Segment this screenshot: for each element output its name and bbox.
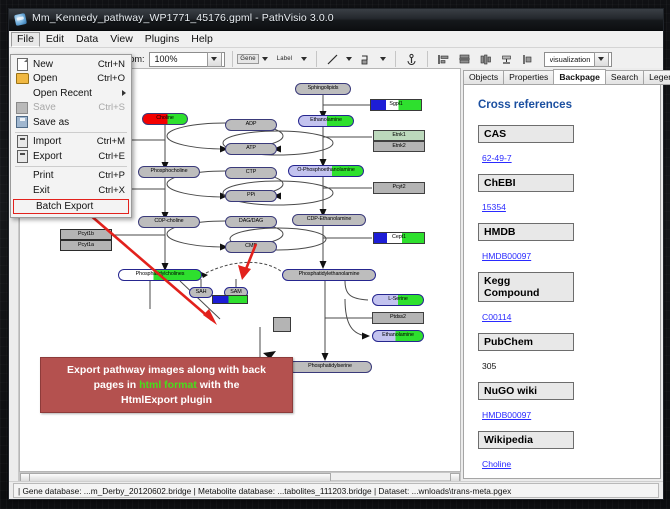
cross-references-heading: Cross references [478, 99, 650, 111]
tab-backpage[interactable]: Backpage [553, 69, 606, 86]
menu-item-new-label: New [33, 59, 98, 70]
interaction-dropdown-icon[interactable] [379, 52, 388, 67]
datanode-dropdown-icon[interactable] [261, 52, 270, 67]
stack-icon[interactable] [477, 51, 494, 68]
menu-item-new-shortcut: Ctrl+N [98, 59, 131, 70]
xref-label-nugo-wiki: NuGO wiki [478, 382, 574, 400]
pathway-node-cdp-ethanolamine[interactable]: CDP-Ethanolamine [292, 214, 366, 226]
pathway-node-choline-1[interactable]: Choline [142, 113, 188, 125]
menu-item-exit[interactable]: Exit Ctrl+X [11, 183, 131, 198]
menu-item-save: Save Ctrl+S [11, 101, 131, 116]
status-bar: | Gene database: ...m_Derby_20120602.bri… [9, 481, 663, 499]
menu-data[interactable]: Data [70, 32, 104, 47]
side-panel-tabs: Objects Properties Backpage Search Legen… [463, 70, 661, 85]
xref-value-nugo-wiki[interactable]: HMDB00097 [482, 410, 531, 420]
export-icon [11, 150, 33, 163]
menu-item-open-shortcut: Ctrl+O [97, 73, 131, 84]
xref-label-hmdb: HMDB [478, 223, 574, 241]
menu-item-open-label: Open [33, 73, 97, 84]
pathway-node-pcyt2[interactable]: Pcyt2 [373, 182, 425, 194]
menu-view[interactable]: View [104, 32, 139, 47]
align-center-icon[interactable] [456, 51, 473, 68]
datanode-icon[interactable]: Gene [240, 51, 257, 68]
pathvisio-app-icon [14, 13, 27, 26]
pathway-node-phosphatidylethanolamine[interactable]: Phosphatidylethanolamine [282, 269, 376, 281]
tab-properties[interactable]: Properties [503, 70, 554, 86]
open-folder-icon [11, 73, 33, 84]
line-dropdown-icon[interactable] [345, 52, 354, 67]
label-icon[interactable]: Label [274, 51, 296, 68]
menu-file[interactable]: File [11, 32, 40, 47]
pathway-node-o-phosphoethanolamine[interactable]: O-Phosphoethanolamine [288, 165, 364, 177]
import-icon [11, 135, 33, 148]
menu-item-batch-export-label: Batch Export [36, 201, 128, 212]
menu-item-print-shortcut: Ctrl+P [98, 170, 131, 181]
anchor-icon[interactable] [403, 51, 420, 68]
tab-legend[interactable]: Legend [643, 70, 670, 86]
status-text: | Gene database: ...m_Derby_20120602.bri… [13, 483, 659, 498]
pathway-node-etnk1[interactable]: Etnk1 [373, 130, 425, 141]
pathway-node-cdp-choline[interactable]: CDP-choline [138, 216, 200, 228]
visualization-combobox[interactable]: visualization [544, 52, 612, 67]
pathway-node-sphingolipids[interactable]: Sphingolipids [295, 83, 351, 95]
annotation-callout: Export pathway images along with back pa… [40, 357, 293, 413]
menu-item-import-label: Import [33, 136, 97, 147]
pathway-node-ptdss2[interactable]: Ptdss2 [372, 312, 424, 324]
callout-line-2-post: with the [197, 379, 240, 391]
callout-line-1: Export pathway images along with back [67, 364, 266, 376]
menu-item-exit-shortcut: Ctrl+X [98, 185, 131, 196]
order-icon[interactable] [519, 51, 536, 68]
pathway-node-pemt[interactable] [212, 295, 248, 304]
menu-item-save-label: Save [33, 102, 98, 113]
menu-item-export-shortcut: Ctrl+E [98, 151, 131, 162]
tab-search[interactable]: Search [605, 70, 644, 86]
menu-item-import-shortcut: Ctrl+M [97, 136, 131, 147]
pathway-node-ctp[interactable]: CTP [225, 167, 277, 179]
group-icon[interactable] [498, 51, 515, 68]
menu-item-print[interactable]: Print Ctrl+P [11, 169, 131, 184]
tab-objects[interactable]: Objects [463, 70, 504, 86]
pathway-node-atp[interactable]: ATP [225, 143, 277, 155]
menu-item-save-as-label: Save as [33, 117, 125, 128]
menu-bar: File Edit Data View Plugins Help [9, 31, 663, 48]
pathway-node-dag[interactable]: DAG/DAG [225, 216, 277, 228]
file-menu-dropdown: New Ctrl+N Open Ctrl+O Open Recent Save … [10, 54, 132, 218]
title-bar: Mm_Kennedy_pathway_WP1771_45176.gpml - P… [9, 9, 663, 31]
interaction-icon[interactable] [358, 51, 375, 68]
canvas-horizontal-scrollbar[interactable] [19, 472, 461, 481]
pathway-node-l-serine[interactable]: L-Serine [372, 294, 424, 306]
pathway-node-phosphatidylcholines[interactable]: Phosphatidylcholines [118, 269, 202, 281]
menu-item-save-as[interactable]: Save as [11, 115, 131, 130]
save-disk-icon [11, 102, 33, 114]
pathway-node-sah[interactable]: SAH [189, 287, 213, 298]
pathway-node-etnk2[interactable]: Etnk2 [373, 141, 425, 152]
zoom-value: 100% [155, 54, 207, 64]
xref-value-kegg-compound[interactable]: C00114 [482, 312, 511, 322]
xref-label-wikipedia: Wikipedia [478, 431, 574, 449]
menu-item-import[interactable]: Import Ctrl+M [11, 135, 131, 150]
backpage-panel: Cross references CAS 62-49-7 ChEBI 15354… [463, 84, 661, 479]
window-title: Mm_Kennedy_pathway_WP1771_45176.gpml - P… [32, 12, 334, 24]
pathway-node-pcyt1a[interactable]: Pcyt1a [60, 240, 112, 251]
menu-item-batch-export[interactable]: Batch Export [13, 199, 129, 214]
xref-value-chebi[interactable]: 15354 [482, 202, 506, 212]
menu-help[interactable]: Help [185, 32, 219, 47]
pathway-node-sgpl1[interactable]: Sgpl1 [370, 99, 422, 111]
menu-separator-2 [15, 166, 127, 167]
chevron-right-icon [122, 90, 126, 96]
menu-item-export[interactable]: Export Ctrl+E [11, 149, 131, 164]
menu-item-export-label: Export [33, 151, 98, 162]
toolbar-separator [232, 51, 233, 67]
pathway-node-cmp[interactable]: CMP [225, 241, 277, 253]
pathway-node-cept1[interactable]: Cept1 [373, 232, 425, 244]
toolbar-separator-2 [316, 51, 317, 67]
pathway-node-ethanolamine-1[interactable]: Ethanolamine [298, 115, 354, 127]
menu-item-new[interactable]: New Ctrl+N [11, 57, 131, 72]
pathway-node-pcyt1b[interactable]: Pcyt1b [60, 229, 112, 240]
pathway-node-adp[interactable]: ADP [225, 119, 277, 131]
toolbar-separator-3 [395, 51, 396, 67]
xref-value-hmdb[interactable]: HMDB00097 [482, 251, 531, 261]
callout-line-3: HtmlExport plugin [121, 394, 212, 406]
pathway-anchor-box[interactable] [273, 317, 291, 332]
menu-item-open-recent[interactable]: Open Recent [11, 86, 131, 101]
xref-label-cas: CAS [478, 125, 574, 143]
callout-line-2-highlight: html format [139, 379, 197, 391]
xref-value-cas[interactable]: 62-49-7 [482, 153, 512, 163]
pathway-node-ppi[interactable]: PPi [225, 190, 277, 202]
save-as-disk-icon [11, 116, 33, 128]
application-window: Mm_Kennedy_pathway_WP1771_45176.gpml - P… [8, 8, 664, 500]
callout-line-2-pre: pages in [94, 379, 140, 391]
label-dropdown-icon[interactable] [300, 52, 309, 67]
align-left-icon[interactable] [435, 51, 452, 68]
menu-plugins[interactable]: Plugins [139, 32, 185, 47]
visualization-chevron-down-icon[interactable] [594, 52, 609, 67]
menu-edit[interactable]: Edit [40, 32, 70, 47]
new-document-icon [11, 58, 33, 71]
menu-item-open[interactable]: Open Ctrl+O [11, 72, 131, 87]
side-panel: Objects Properties Backpage Search Legen… [461, 68, 663, 481]
xref-label-chebi: ChEBI [478, 174, 574, 192]
xref-label-pubchem: PubChem [478, 333, 574, 351]
chevron-down-icon[interactable] [207, 52, 222, 67]
pathway-node-phosphatidylserine[interactable]: Phosphatidylserine [288, 361, 372, 373]
xref-value-wikipedia[interactable]: Choline [482, 459, 511, 469]
menu-item-print-label: Print [33, 170, 98, 181]
menu-item-save-shortcut: Ctrl+S [98, 102, 131, 113]
line-icon[interactable] [324, 51, 341, 68]
xref-value-pubchem: 305 [482, 361, 496, 371]
zoom-combobox[interactable]: 100% [149, 52, 225, 67]
pathway-node-ethanolamine-2[interactable]: Ethanolamine [372, 330, 424, 342]
xref-label-kegg-compound: Kegg Compound [478, 272, 574, 302]
visualization-value: visualization [550, 55, 594, 64]
menu-separator-1 [15, 132, 127, 133]
toolbar-separator-4 [427, 51, 428, 67]
menu-item-exit-label: Exit [33, 185, 98, 196]
pathway-node-phosphocholine[interactable]: Phosphocholine [138, 166, 200, 178]
menu-item-open-recent-label: Open Recent [33, 88, 131, 99]
